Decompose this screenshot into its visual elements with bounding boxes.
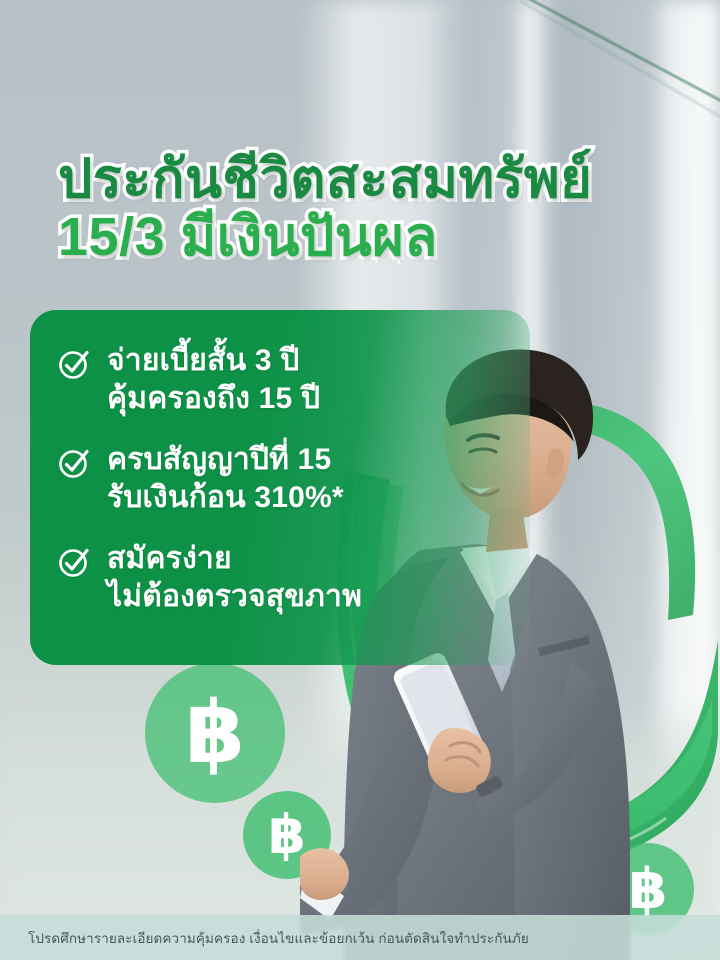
benefits-list: จ่ายเบี้ยสั้น 3 ปี คุ้มครองถึง 15 ปี ครบ… xyxy=(30,310,460,616)
list-item-text: สมัครง่าย ไม่ต้องตรวจสุขภาพ xyxy=(107,540,362,617)
list-item-text: จ่ายเบี้ยสั้น 3 ปี คุ้มครองถึง 15 ปี xyxy=(107,342,320,419)
bullet-3-line-2: ไม่ต้องตรวจสุขภาพ xyxy=(107,578,362,616)
check-circle-icon xyxy=(58,546,90,578)
baht-symbol-icon: ฿ xyxy=(185,690,245,776)
bullet-1-line-1: จ่ายเบี้ยสั้น 3 ปี xyxy=(107,344,300,377)
bullet-1-line-2: คุ้มครองถึง 15 ปี xyxy=(107,380,320,418)
bullet-3-line-1: สมัครง่าย xyxy=(107,542,232,575)
disclaimer-text: โปรดศึกษารายละเอียดความคุ้มครอง เงื่อนไข… xyxy=(28,927,529,949)
bullet-2-line-1: ครบสัญญาปีที่ 15 xyxy=(107,443,331,476)
headline-line-2: 15/3 มีเงินปันผล xyxy=(58,210,698,264)
list-item-text: ครบสัญญาปีที่ 15 รับเงินก้อน 310%* xyxy=(107,441,344,518)
insurance-poster: ฿ ฿ ฿ xyxy=(0,0,720,960)
baht-circle-large: ฿ xyxy=(145,663,285,803)
list-item: ครบสัญญาปีที่ 15 รับเงินก้อน 310%* xyxy=(58,441,460,518)
list-item: สมัครง่าย ไม่ต้องตรวจสุขภาพ xyxy=(58,540,460,617)
headline-line-1: ประกันชีวิตสะสมทรัพย์ xyxy=(58,152,698,206)
check-circle-icon xyxy=(58,447,90,479)
check-circle-icon xyxy=(58,348,90,380)
page-title: ประกันชีวิตสะสมทรัพย์ 15/3 มีเงินปันผล xyxy=(58,152,698,264)
bullet-2-line-2: รับเงินก้อน 310%* xyxy=(107,479,344,517)
disclaimer-bar: โปรดศึกษารายละเอียดความคุ้มครอง เงื่อนไข… xyxy=(0,915,720,960)
list-item: จ่ายเบี้ยสั้น 3 ปี คุ้มครองถึง 15 ปี xyxy=(58,342,460,419)
